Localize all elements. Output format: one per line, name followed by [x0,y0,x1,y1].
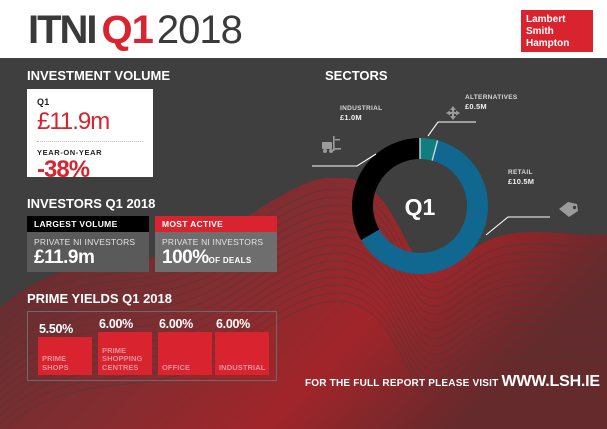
sector-label-alternatives: ALTERNATIVES £0.5M [465,94,517,111]
logo-line-3: Hampton [526,38,588,50]
logo-line-1: Lambert [526,14,588,26]
prime-yield-bar-2: OFFICE [158,332,212,375]
footer-url[interactable]: WWW.LSH.IE [501,373,599,390]
investors-most-active-panel: MOST ACTIVE PRIVATE NI INVESTORS 100%OF … [155,216,277,272]
prime-yield-label-1: PRIME SHOPPING CENTRES [102,347,152,373]
title-quarter: Q1 [102,8,153,52]
sector-value-industrial: £1.0M [340,113,382,122]
prime-yield-item-1: 6.00% PRIME SHOPPING CENTRES [98,317,152,375]
donut-slice-industrial [352,138,420,240]
investors-largest-volume-panel: LARGEST VOLUME PRIVATE NI INVESTORS £11.… [27,216,149,272]
main-panel: INVESTMENT VOLUME Q1 £11.9m YEAR-ON-YEAR… [0,58,607,429]
sector-name-retail: RETAIL [508,169,534,176]
prime-yield-bar-0: PRIME SHOPS [38,337,92,375]
prime-yield-bar-3: INDUSTRIAL [215,332,269,375]
yoy-value: -38% [37,157,143,183]
logo-line-2: Smith [526,26,588,38]
sector-value-alternatives: £0.5M [465,102,517,111]
investors-panels: LARGEST VOLUME PRIVATE NI INVESTORS £11.… [27,216,277,272]
prime-yield-label-2: OFFICE [162,364,190,373]
most-active-header: MOST ACTIVE [155,216,277,232]
page-header: ITNIQ12018 Lambert Smith Hampton [0,0,607,58]
prime-yield-percent-3: 6.00% [216,317,269,331]
prime-yield-label-3: INDUSTRIAL [219,364,265,373]
prime-yield-item-3: 6.00% INDUSTRIAL [215,317,269,375]
most-active-value-wrap: 100%OF DEALS [162,247,270,272]
sector-value-retail: £10.5M [508,177,534,186]
title-year: 2018 [157,8,242,52]
prime-yields-box: 5.50% PRIME SHOPS 6.00% PRIME SHOPPING C… [27,311,277,381]
most-active-body: PRIVATE NI INVESTORS 100%OF DEALS [155,232,277,272]
prime-yield-bar-1: PRIME SHOPPING CENTRES [98,332,152,375]
lsh-logo: Lambert Smith Hampton [521,10,593,52]
investment-volume-heading: INVESTMENT VOLUME [27,68,170,83]
sector-name-alternatives: ALTERNATIVES [465,94,517,101]
prime-yield-percent-0: 5.50% [39,322,92,336]
prime-yield-item-2: 6.00% OFFICE [158,317,212,375]
price-tag-icon [559,202,578,217]
sector-label-retail: RETAIL £10.5M [508,169,534,186]
investment-volume-card: Q1 £11.9m YEAR-ON-YEAR -38% [27,89,153,177]
prime-yields-heading: PRIME YIELDS Q1 2018 [27,291,172,306]
investment-period-label: Q1 [37,97,143,107]
largest-volume-body: PRIVATE NI INVESTORS £11.9m [27,232,149,272]
footer-prefix: FOR THE FULL REPORT PLEASE VISIT [305,378,498,389]
most-active-suffix: OF DEALS [209,256,252,265]
most-active-subject: PRIVATE NI INVESTORS [162,237,270,247]
largest-volume-subject: PRIVATE NI INVESTORS [34,237,142,247]
title-brand: ITNI [28,8,96,52]
most-active-value: 100% [162,247,209,268]
donut-center-label: Q1 [405,194,436,220]
forklift-icon [322,136,341,153]
footer-cta: FOR THE FULL REPORT PLEASE VISITWWW.LSH.… [305,373,600,391]
largest-volume-header: LARGEST VOLUME [27,216,149,232]
sector-name-industrial: INDUSTRIAL [340,105,382,112]
sector-label-industrial: INDUSTRIAL £1.0M [340,105,382,122]
investment-volume-value: £11.9m [37,108,143,136]
prime-yield-label-0: PRIME SHOPS [42,355,92,372]
compass-icon [446,106,460,120]
prime-yield-percent-1: 6.00% [99,317,152,331]
prime-yield-percent-2: 6.00% [159,317,212,331]
prime-yield-item-0: 5.50% PRIME SHOPS [38,322,92,375]
investors-heading: INVESTORS Q1 2018 [27,196,155,211]
largest-volume-value: £11.9m [34,247,142,269]
infographic-canvas: ITNIQ12018 Lambert Smith Hampton [0,0,607,429]
card-divider [37,141,143,142]
page-title: ITNIQ12018 [28,8,242,52]
